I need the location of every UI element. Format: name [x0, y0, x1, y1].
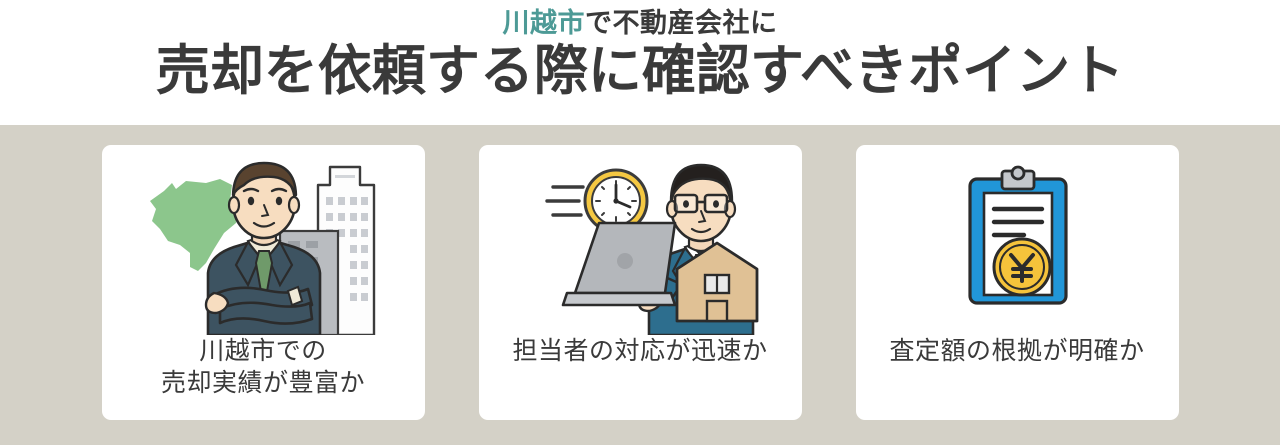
card-valuation-basis-caption-line1: 査定額の根拠が明確か [889, 335, 1144, 367]
card-response-speed-caption: 担当者の対応が迅速か [512, 335, 767, 367]
card-valuation-basis[interactable]: 査定額の根拠が明確か [856, 145, 1179, 420]
subtitle-city-name: 川越市 [503, 8, 586, 38]
card-experience[interactable]: 川越市での 売却実績が豊富か [102, 145, 425, 420]
speed-lines-icon [547, 187, 583, 215]
page-subtitle: 川越市で不動産会社に [503, 8, 778, 39]
subtitle-remainder: で不動産会社に [585, 8, 778, 38]
card-valuation-basis-caption: 査定額の根拠が明確か [889, 335, 1144, 367]
content-band: 川越市での 売却実績が豊富か [0, 125, 1280, 445]
card-experience-caption-line2: 売却実績が豊富か [161, 367, 365, 399]
page-title: 売却を依頼する際に確認すべきポイント [156, 41, 1124, 101]
yen-coin-icon [994, 239, 1050, 295]
card-experience-caption: 川越市での 売却実績が豊富か [161, 335, 365, 399]
card-response-speed-illustration [479, 145, 802, 335]
card-experience-illustration [102, 145, 425, 335]
card-response-speed-caption-line1: 担当者の対応が迅速か [512, 335, 767, 367]
card-response-speed[interactable]: 担当者の対応が迅速か [479, 145, 802, 420]
card-experience-caption-line1: 川越市での [161, 335, 365, 367]
card-valuation-basis-illustration [856, 145, 1179, 335]
laptop-icon [563, 223, 675, 305]
card-list: 川越市での 売却実績が豊富か [0, 145, 1280, 420]
page-header: 川越市で不動産会社に 売却を依頼する際に確認すべきポイント [0, 0, 1280, 125]
